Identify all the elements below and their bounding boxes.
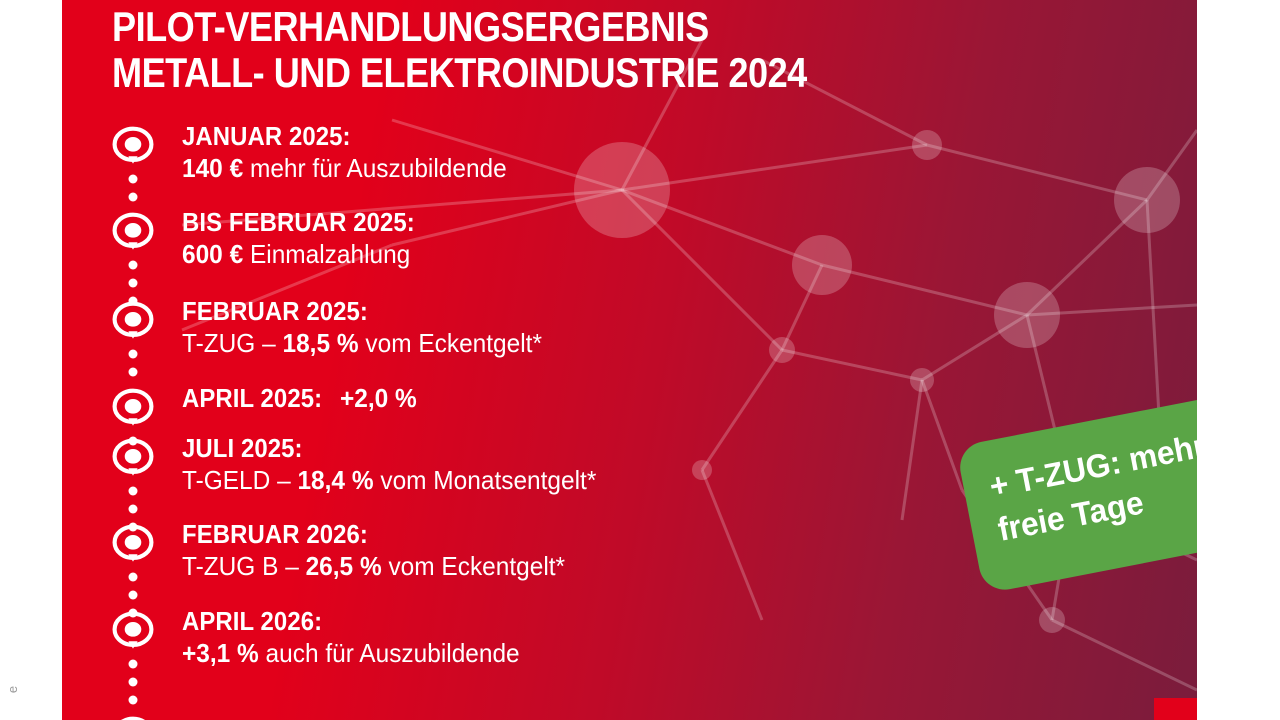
timeline-item-text: APRIL 2026:+3,1 % auch für Auszubildende [182, 606, 541, 669]
timeline-dotted-connector [110, 257, 156, 321]
timeline-item: APRIL 2026:+3,1 % auch für Auszubildende [110, 610, 1150, 659]
timeline-dotted-connector [110, 433, 156, 461]
timeline-item-text: JULI 2025:T-GELD – 18,4 % vom Monatsentg… [182, 433, 623, 496]
infographic-canvas: PILOT-VERHANDLUNGSERGEBNIS METALL- UND E… [0, 0, 1280, 720]
timeline-item-value: +3,1 % auch für Auszubildende [182, 637, 520, 669]
timeline-item-value: 600 € Einmalzahlung [182, 238, 420, 270]
timeline-item-text: BIS FEBRUAR 2025:600 € Einmalzahlung [182, 207, 435, 270]
timeline-item: BIS FEBRUAR 2025:600 € Einmalzahlung [110, 211, 1150, 260]
timeline-item-label: JANUAR 2025: [182, 121, 351, 152]
timeline-item-label: FEBRUAR 2026: [182, 519, 368, 550]
timeline-dotted-connector [110, 569, 156, 633]
timeline-dotted-connector [110, 483, 156, 547]
timeline-value-amount: 18,4 % [297, 465, 373, 495]
timeline-item-label: FEBRUAR 2025: [182, 296, 368, 327]
timeline-item-value: 140 € mehr für Auszubildende [182, 152, 507, 184]
timeline-item-text: JANUAR 2025:140 € mehr für Auszubildende [182, 121, 527, 184]
logo-triangle-icon [1196, 703, 1197, 720]
timeline-item-value: T-ZUG – 18,5 % vom Eckentgelt* [182, 327, 542, 359]
headline-line-1: PILOT-VERHANDLUNGSERGEBNIS [112, 4, 929, 50]
timeline-item-label: APRIL 2025: [182, 383, 322, 414]
timeline-item: FEBRUAR 2025:T-ZUG – 18,5 % vom Eckentge… [110, 300, 1150, 349]
timeline-item-value: T-GELD – 18,4 % vom Monatsentgelt* [182, 464, 596, 496]
timeline-value-suffix: vom Monatsentgelt* [374, 465, 597, 495]
timeline-value-suffix: Einmalzahlung [243, 239, 410, 269]
credit-letter: e [5, 686, 20, 693]
timeline-value-prefix: T-GELD – [182, 465, 297, 495]
igmetall-logo-block [1154, 698, 1197, 720]
timeline-value-suffix: vom Eckentgelt* [359, 328, 542, 358]
timeline-value-amount: 140 € [182, 153, 243, 183]
timeline-value-suffix: vom Eckentgelt* [382, 551, 565, 581]
timeline-item-text: FEBRUAR 2026:T-ZUG B – 26,5 % vom Eckent… [182, 519, 590, 582]
headline-line-2: METALL- UND ELEKTROINDUSTRIE 2024 [112, 50, 929, 96]
timeline-item-text: FEBRUAR 2025:T-ZUG – 18,5 % vom Eckentge… [182, 296, 565, 359]
timeline-value-prefix: T-ZUG – [182, 328, 282, 358]
timeline-marker-icon [110, 211, 156, 257]
timeline-item-value: T-ZUG B – 26,5 % vom Eckentgelt* [182, 550, 565, 582]
timeline-item-label: APRIL 2026: [182, 606, 322, 637]
timeline-item: JANUAR 2025:140 € mehr für Auszubildende [110, 125, 1150, 174]
timeline-value-amount: +3,1 % [182, 638, 259, 668]
timeline-dotted-connector [110, 346, 156, 392]
timeline-item-text: APRIL 2025:+2,0 % [182, 383, 422, 414]
timeline-item-label: BIS FEBRUAR 2025: [182, 207, 415, 238]
timeline-value-suffix: mehr für Auszubildende [243, 153, 507, 183]
timeline-item-value: +2,0 % [340, 383, 417, 414]
timeline-dotted-connector [110, 656, 156, 720]
timeline-value-amount: 18,5 % [282, 328, 358, 358]
timeline-marker-icon [110, 387, 156, 433]
red-panel: PILOT-VERHANDLUNGSERGEBNIS METALL- UND E… [62, 0, 1197, 720]
timeline-dotted-connector [110, 171, 156, 217]
timeline-value-amount: 26,5 % [306, 551, 382, 581]
timeline-value-suffix: auch für Auszubildende [259, 638, 520, 668]
timeline-value-prefix: T-ZUG B – [182, 551, 306, 581]
timeline-marker-icon [110, 125, 156, 171]
page-title: PILOT-VERHANDLUNGSERGEBNIS METALL- UND E… [112, 4, 929, 96]
timeline-value-amount: 600 € [182, 239, 243, 269]
timeline-marker-icon [110, 715, 156, 720]
timeline-item-label: JULI 2025: [182, 433, 303, 464]
timeline-item: APRIL 2025:+2,0 % [110, 387, 1150, 436]
